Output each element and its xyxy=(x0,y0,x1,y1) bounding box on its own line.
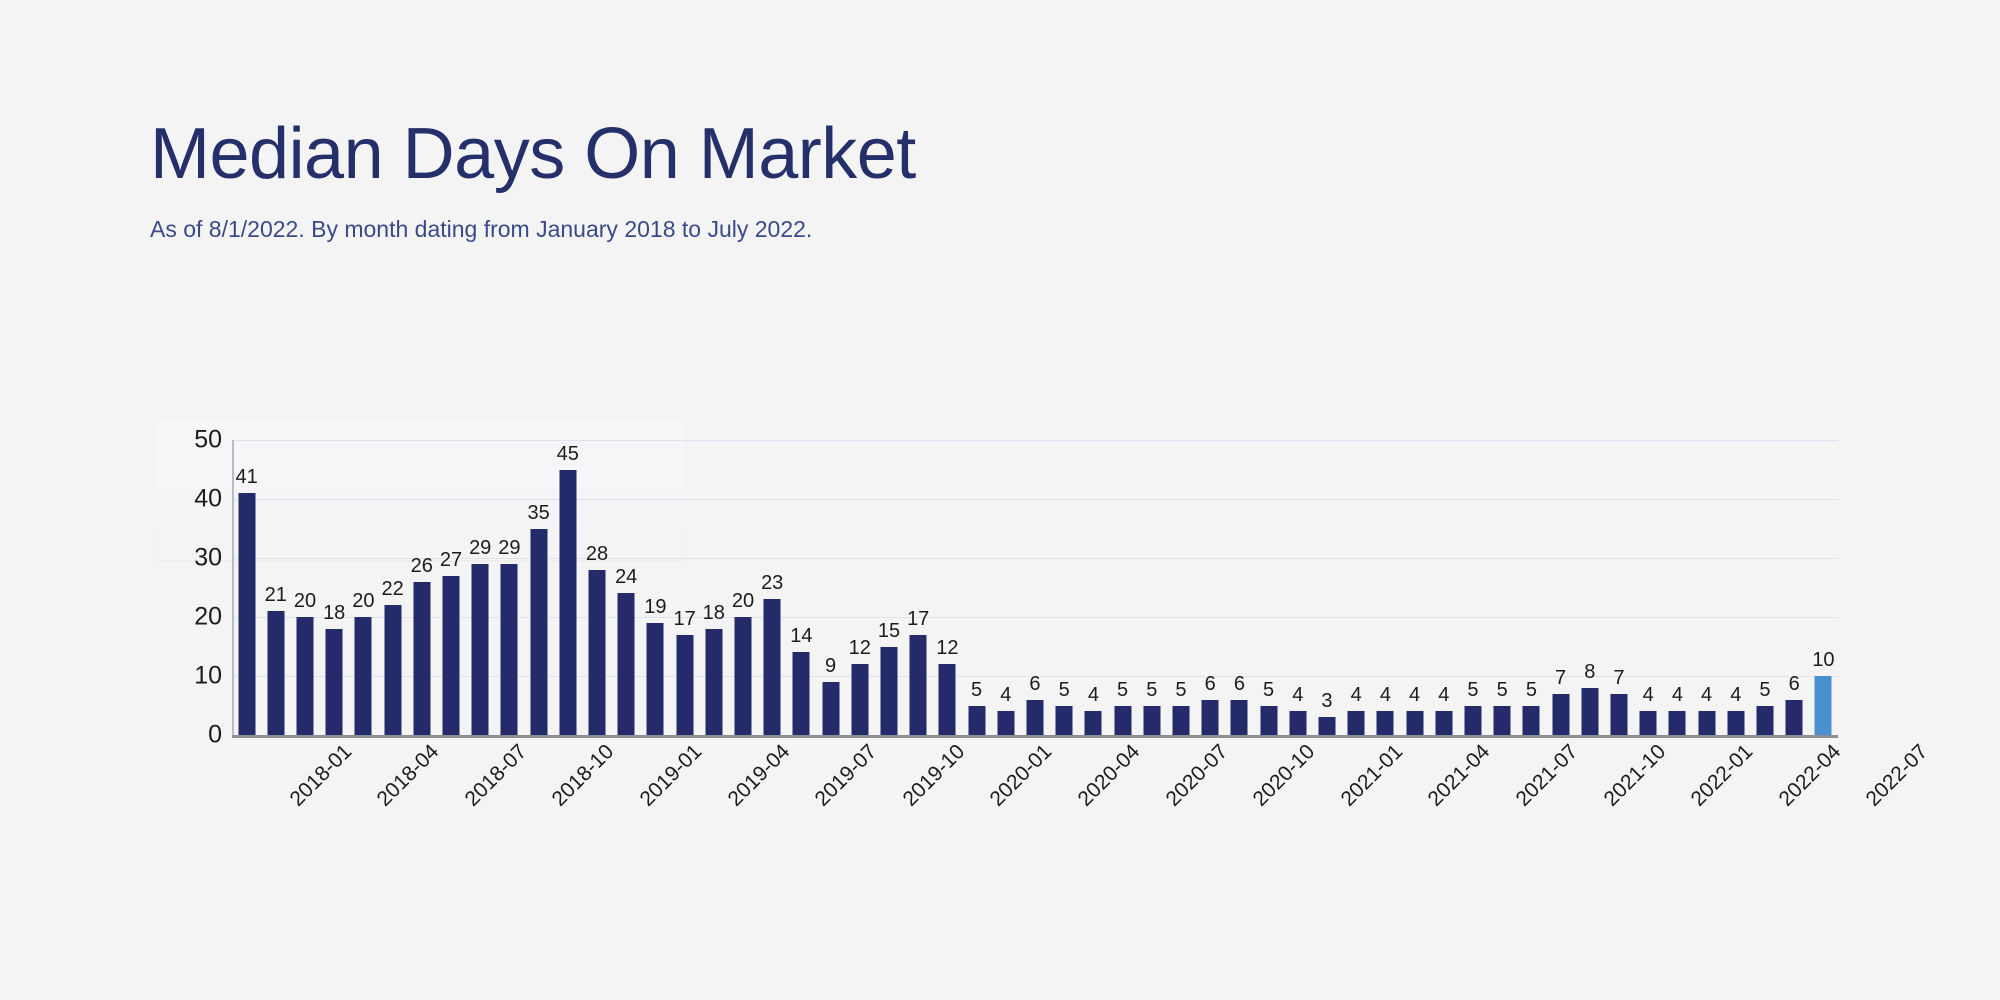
bar-slot[interactable]: 8 xyxy=(1575,440,1604,735)
x-axis-ticks: 2018-012018-042018-072018-102019-012019-… xyxy=(232,740,1838,900)
bar-value-label: 21 xyxy=(265,585,287,605)
bar[interactable] xyxy=(968,706,985,736)
bar[interactable] xyxy=(676,635,693,735)
bar[interactable] xyxy=(764,599,781,735)
bar[interactable] xyxy=(1377,711,1394,735)
bar-value-label: 4 xyxy=(1438,685,1449,705)
bar[interactable] xyxy=(530,529,547,736)
bar-slot[interactable]: 4 xyxy=(1692,440,1721,735)
bar-slot[interactable]: 21 xyxy=(261,440,290,735)
y-tick-label: 0 xyxy=(152,721,222,750)
bar[interactable] xyxy=(1231,700,1248,735)
bar[interactable] xyxy=(296,617,313,735)
bar-value-label: 6 xyxy=(1205,674,1216,694)
y-tick-label: 40 xyxy=(152,485,222,514)
y-tick-label: 20 xyxy=(152,603,222,632)
bar-value-label: 20 xyxy=(732,591,754,611)
x-tick-label: 2019-01 xyxy=(636,740,707,811)
bar-slot[interactable]: 6 xyxy=(1225,440,1254,735)
bar[interactable] xyxy=(413,582,430,735)
bar-slot[interactable]: 6 xyxy=(1196,440,1225,735)
bar-slot[interactable]: 5 xyxy=(1254,440,1283,735)
bar-value-label: 9 xyxy=(825,656,836,676)
bar[interactable] xyxy=(1523,706,1540,736)
bar-value-label: 3 xyxy=(1321,691,1332,711)
x-tick-label: 2018-04 xyxy=(373,740,444,811)
x-tick-label: 2021-01 xyxy=(1336,740,1407,811)
bar-value-label: 22 xyxy=(381,579,403,599)
bar-value-label: 4 xyxy=(1643,685,1654,705)
x-tick-label: 2020-04 xyxy=(1074,740,1145,811)
bar[interactable] xyxy=(939,664,956,735)
bar-value-label: 7 xyxy=(1555,668,1566,688)
bar-value-label: 29 xyxy=(469,538,491,558)
x-tick-label: 2022-01 xyxy=(1687,740,1758,811)
bar-slot[interactable]: 3 xyxy=(1312,440,1341,735)
bar[interactable] xyxy=(1318,717,1335,735)
bar-value-label: 26 xyxy=(411,556,433,576)
bar[interactable] xyxy=(1640,711,1657,735)
bar-slot[interactable]: 7 xyxy=(1546,440,1575,735)
bar-value-label: 8 xyxy=(1584,662,1595,682)
bar-value-label: 6 xyxy=(1789,674,1800,694)
bar[interactable] xyxy=(1464,706,1481,736)
bar-slot[interactable]: 10 xyxy=(1809,440,1838,735)
y-tick-label: 50 xyxy=(152,426,222,455)
bar[interactable] xyxy=(238,493,255,735)
bar-value-label: 17 xyxy=(673,609,695,629)
bar-slot[interactable]: 17 xyxy=(904,440,933,735)
bar-value-label: 14 xyxy=(790,626,812,646)
bar-chart-figure: 01020304050 4121201820222627292935452824… xyxy=(0,0,2000,1000)
bar-slot[interactable]: 4 xyxy=(1400,440,1429,735)
bar-slot[interactable]: 23 xyxy=(758,440,787,735)
bar[interactable] xyxy=(501,564,518,735)
bar-value-label: 29 xyxy=(498,538,520,558)
bar-slot[interactable]: 28 xyxy=(582,440,611,735)
bar-slot[interactable]: 7 xyxy=(1604,440,1633,735)
x-tick-label: 2019-07 xyxy=(811,740,882,811)
x-tick-label: 2022-07 xyxy=(1862,740,1933,811)
x-tick-label: 2021-07 xyxy=(1512,740,1583,811)
bar-value-label: 5 xyxy=(971,680,982,700)
bar-slot[interactable]: 24 xyxy=(612,440,641,735)
bar[interactable] xyxy=(997,711,1014,735)
bar-slot[interactable]: 4 xyxy=(1663,440,1692,735)
bar-slot[interactable]: 29 xyxy=(466,440,495,735)
bar-value-label: 4 xyxy=(1088,685,1099,705)
bar-value-label: 28 xyxy=(586,544,608,564)
bar-value-label: 12 xyxy=(936,638,958,658)
bar[interactable] xyxy=(1056,706,1073,736)
bar-value-label: 18 xyxy=(323,603,345,623)
bar-slot[interactable]: 6 xyxy=(1020,440,1049,735)
bar-value-label: 45 xyxy=(557,444,579,464)
bar-slot[interactable]: 26 xyxy=(407,440,436,735)
bar-value-label: 19 xyxy=(644,597,666,617)
bar[interactable] xyxy=(1202,700,1219,735)
bar-value-label: 4 xyxy=(1380,685,1391,705)
y-axis-ticks: 01020304050 xyxy=(150,440,222,735)
bar-value-label: 20 xyxy=(352,591,374,611)
bar-slot[interactable]: 15 xyxy=(874,440,903,735)
bar-slot[interactable]: 29 xyxy=(495,440,524,735)
bar-value-label: 12 xyxy=(849,638,871,658)
bar[interactable] xyxy=(267,611,284,735)
bar[interactable] xyxy=(734,617,751,735)
x-tick-label: 2020-01 xyxy=(986,740,1057,811)
plot-area: 4121201820222627292935452824191718202314… xyxy=(232,440,1838,735)
bar-slot[interactable]: 18 xyxy=(699,440,728,735)
bar-value-label: 6 xyxy=(1234,674,1245,694)
bar[interactable] xyxy=(1289,711,1306,735)
bar-value-label: 4 xyxy=(1730,685,1741,705)
bar[interactable] xyxy=(1026,700,1043,735)
x-tick-label: 2022-04 xyxy=(1774,740,1845,811)
bar-value-label: 4 xyxy=(1292,685,1303,705)
bar-series: 4121201820222627292935452824191718202314… xyxy=(232,440,1838,735)
bar-slot[interactable]: 20 xyxy=(290,440,319,735)
bar-slot[interactable]: 5 xyxy=(1517,440,1546,735)
x-tick-label: 2018-01 xyxy=(285,740,356,811)
bar-value-label: 5 xyxy=(1526,680,1537,700)
bar-value-label: 4 xyxy=(1701,685,1712,705)
bar-slot[interactable]: 4 xyxy=(1079,440,1108,735)
bar-slot[interactable]: 27 xyxy=(436,440,465,735)
bar[interactable] xyxy=(1698,711,1715,735)
x-tick-label: 2019-10 xyxy=(898,740,969,811)
bar-slot[interactable]: 5 xyxy=(1458,440,1487,735)
bar[interactable] xyxy=(326,629,343,735)
bar[interactable] xyxy=(1085,711,1102,735)
bar-value-label: 5 xyxy=(1759,680,1770,700)
bar-slot[interactable]: 9 xyxy=(816,440,845,735)
bar-slot[interactable]: 4 xyxy=(991,440,1020,735)
bar-value-label: 5 xyxy=(1175,680,1186,700)
bar[interactable] xyxy=(910,635,927,735)
bar[interactable] xyxy=(442,576,459,735)
bar-slot[interactable]: 5 xyxy=(1108,440,1137,735)
bar-slot[interactable]: 17 xyxy=(670,440,699,735)
x-tick-label: 2020-10 xyxy=(1249,740,1320,811)
bar[interactable] xyxy=(1756,706,1773,736)
bar-slot[interactable]: 5 xyxy=(1137,440,1166,735)
bar-value-label: 5 xyxy=(1059,680,1070,700)
bar-slot[interactable]: 45 xyxy=(553,440,582,735)
bar-value-label: 5 xyxy=(1467,680,1478,700)
bar-slot[interactable]: 12 xyxy=(845,440,874,735)
bar[interactable] xyxy=(705,629,722,735)
bar-slot[interactable]: 5 xyxy=(1050,440,1079,735)
bar-value-label: 20 xyxy=(294,591,316,611)
bar[interactable] xyxy=(1552,694,1569,735)
x-tick-label: 2021-04 xyxy=(1424,740,1495,811)
y-tick-label: 10 xyxy=(152,662,222,691)
bar-value-label: 18 xyxy=(703,603,725,623)
bar-slot[interactable]: 18 xyxy=(320,440,349,735)
bar-slot[interactable]: 6 xyxy=(1780,440,1809,735)
bar[interactable] xyxy=(618,593,635,735)
bar[interactable] xyxy=(851,664,868,735)
bar-slot[interactable]: 19 xyxy=(641,440,670,735)
bar-slot[interactable]: 20 xyxy=(349,440,378,735)
x-tick-label: 2018-07 xyxy=(460,740,531,811)
bar-value-label: 15 xyxy=(878,621,900,641)
bar[interactable] xyxy=(880,647,897,736)
bar-value-label: 7 xyxy=(1613,668,1624,688)
bar-value-label: 41 xyxy=(235,467,257,487)
bar-value-label: 4 xyxy=(1351,685,1362,705)
bar-value-label: 5 xyxy=(1146,680,1157,700)
bar[interactable] xyxy=(1114,706,1131,736)
bar-slot[interactable]: 4 xyxy=(1634,440,1663,735)
bar-value-label: 27 xyxy=(440,550,462,570)
bar-slot[interactable]: 12 xyxy=(933,440,962,735)
y-tick-label: 30 xyxy=(152,544,222,573)
bar[interactable] xyxy=(1610,694,1627,735)
bar[interactable] xyxy=(355,617,372,735)
bar-slot[interactable]: 5 xyxy=(962,440,991,735)
bar-value-label: 5 xyxy=(1117,680,1128,700)
bar-slot[interactable]: 5 xyxy=(1750,440,1779,735)
bar-slot[interactable]: 4 xyxy=(1429,440,1458,735)
bar-highlighted[interactable] xyxy=(1815,676,1832,735)
bar[interactable] xyxy=(1727,711,1744,735)
bar-slot[interactable]: 35 xyxy=(524,440,553,735)
bar-value-label: 17 xyxy=(907,609,929,629)
bar[interactable] xyxy=(472,564,489,735)
x-tick-label: 2021-10 xyxy=(1599,740,1670,811)
bar-slot[interactable]: 22 xyxy=(378,440,407,735)
bar-slot[interactable]: 4 xyxy=(1371,440,1400,735)
bar[interactable] xyxy=(1348,711,1365,735)
bar-value-label: 5 xyxy=(1263,680,1274,700)
bar[interactable] xyxy=(384,605,401,735)
bar[interactable] xyxy=(588,570,605,735)
bar-slot[interactable]: 14 xyxy=(787,440,816,735)
bar[interactable] xyxy=(1786,700,1803,735)
bar[interactable] xyxy=(1143,706,1160,736)
bar-value-label: 4 xyxy=(1409,685,1420,705)
bar-value-label: 24 xyxy=(615,567,637,587)
x-axis-baseline xyxy=(232,735,1838,738)
bar-value-label: 4 xyxy=(1672,685,1683,705)
bar-slot[interactable]: 20 xyxy=(728,440,757,735)
bar-value-label: 5 xyxy=(1497,680,1508,700)
bar-slot[interactable]: 5 xyxy=(1166,440,1195,735)
bar[interactable] xyxy=(1172,706,1189,736)
x-tick-label: 2018-10 xyxy=(548,740,619,811)
bar-slot[interactable]: 4 xyxy=(1721,440,1750,735)
bar[interactable] xyxy=(1406,711,1423,735)
bar[interactable] xyxy=(1494,706,1511,736)
x-tick-label: 2020-07 xyxy=(1161,740,1232,811)
bar-value-label: 10 xyxy=(1812,650,1834,670)
bar-value-label: 4 xyxy=(1000,685,1011,705)
bar[interactable] xyxy=(1669,711,1686,735)
bar-value-label: 23 xyxy=(761,573,783,593)
bar[interactable] xyxy=(559,470,576,736)
bar-slot[interactable]: 41 xyxy=(232,440,261,735)
bar-value-label: 35 xyxy=(527,503,549,523)
bar[interactable] xyxy=(647,623,664,735)
bar-slot[interactable]: 4 xyxy=(1283,440,1312,735)
bar-slot[interactable]: 4 xyxy=(1342,440,1371,735)
bar[interactable] xyxy=(793,652,810,735)
bar[interactable] xyxy=(1260,706,1277,736)
bar-slot[interactable]: 5 xyxy=(1488,440,1517,735)
x-tick-label: 2019-04 xyxy=(723,740,794,811)
bar-value-label: 6 xyxy=(1029,674,1040,694)
bar[interactable] xyxy=(1435,711,1452,735)
bar[interactable] xyxy=(1581,688,1598,735)
bar[interactable] xyxy=(822,682,839,735)
